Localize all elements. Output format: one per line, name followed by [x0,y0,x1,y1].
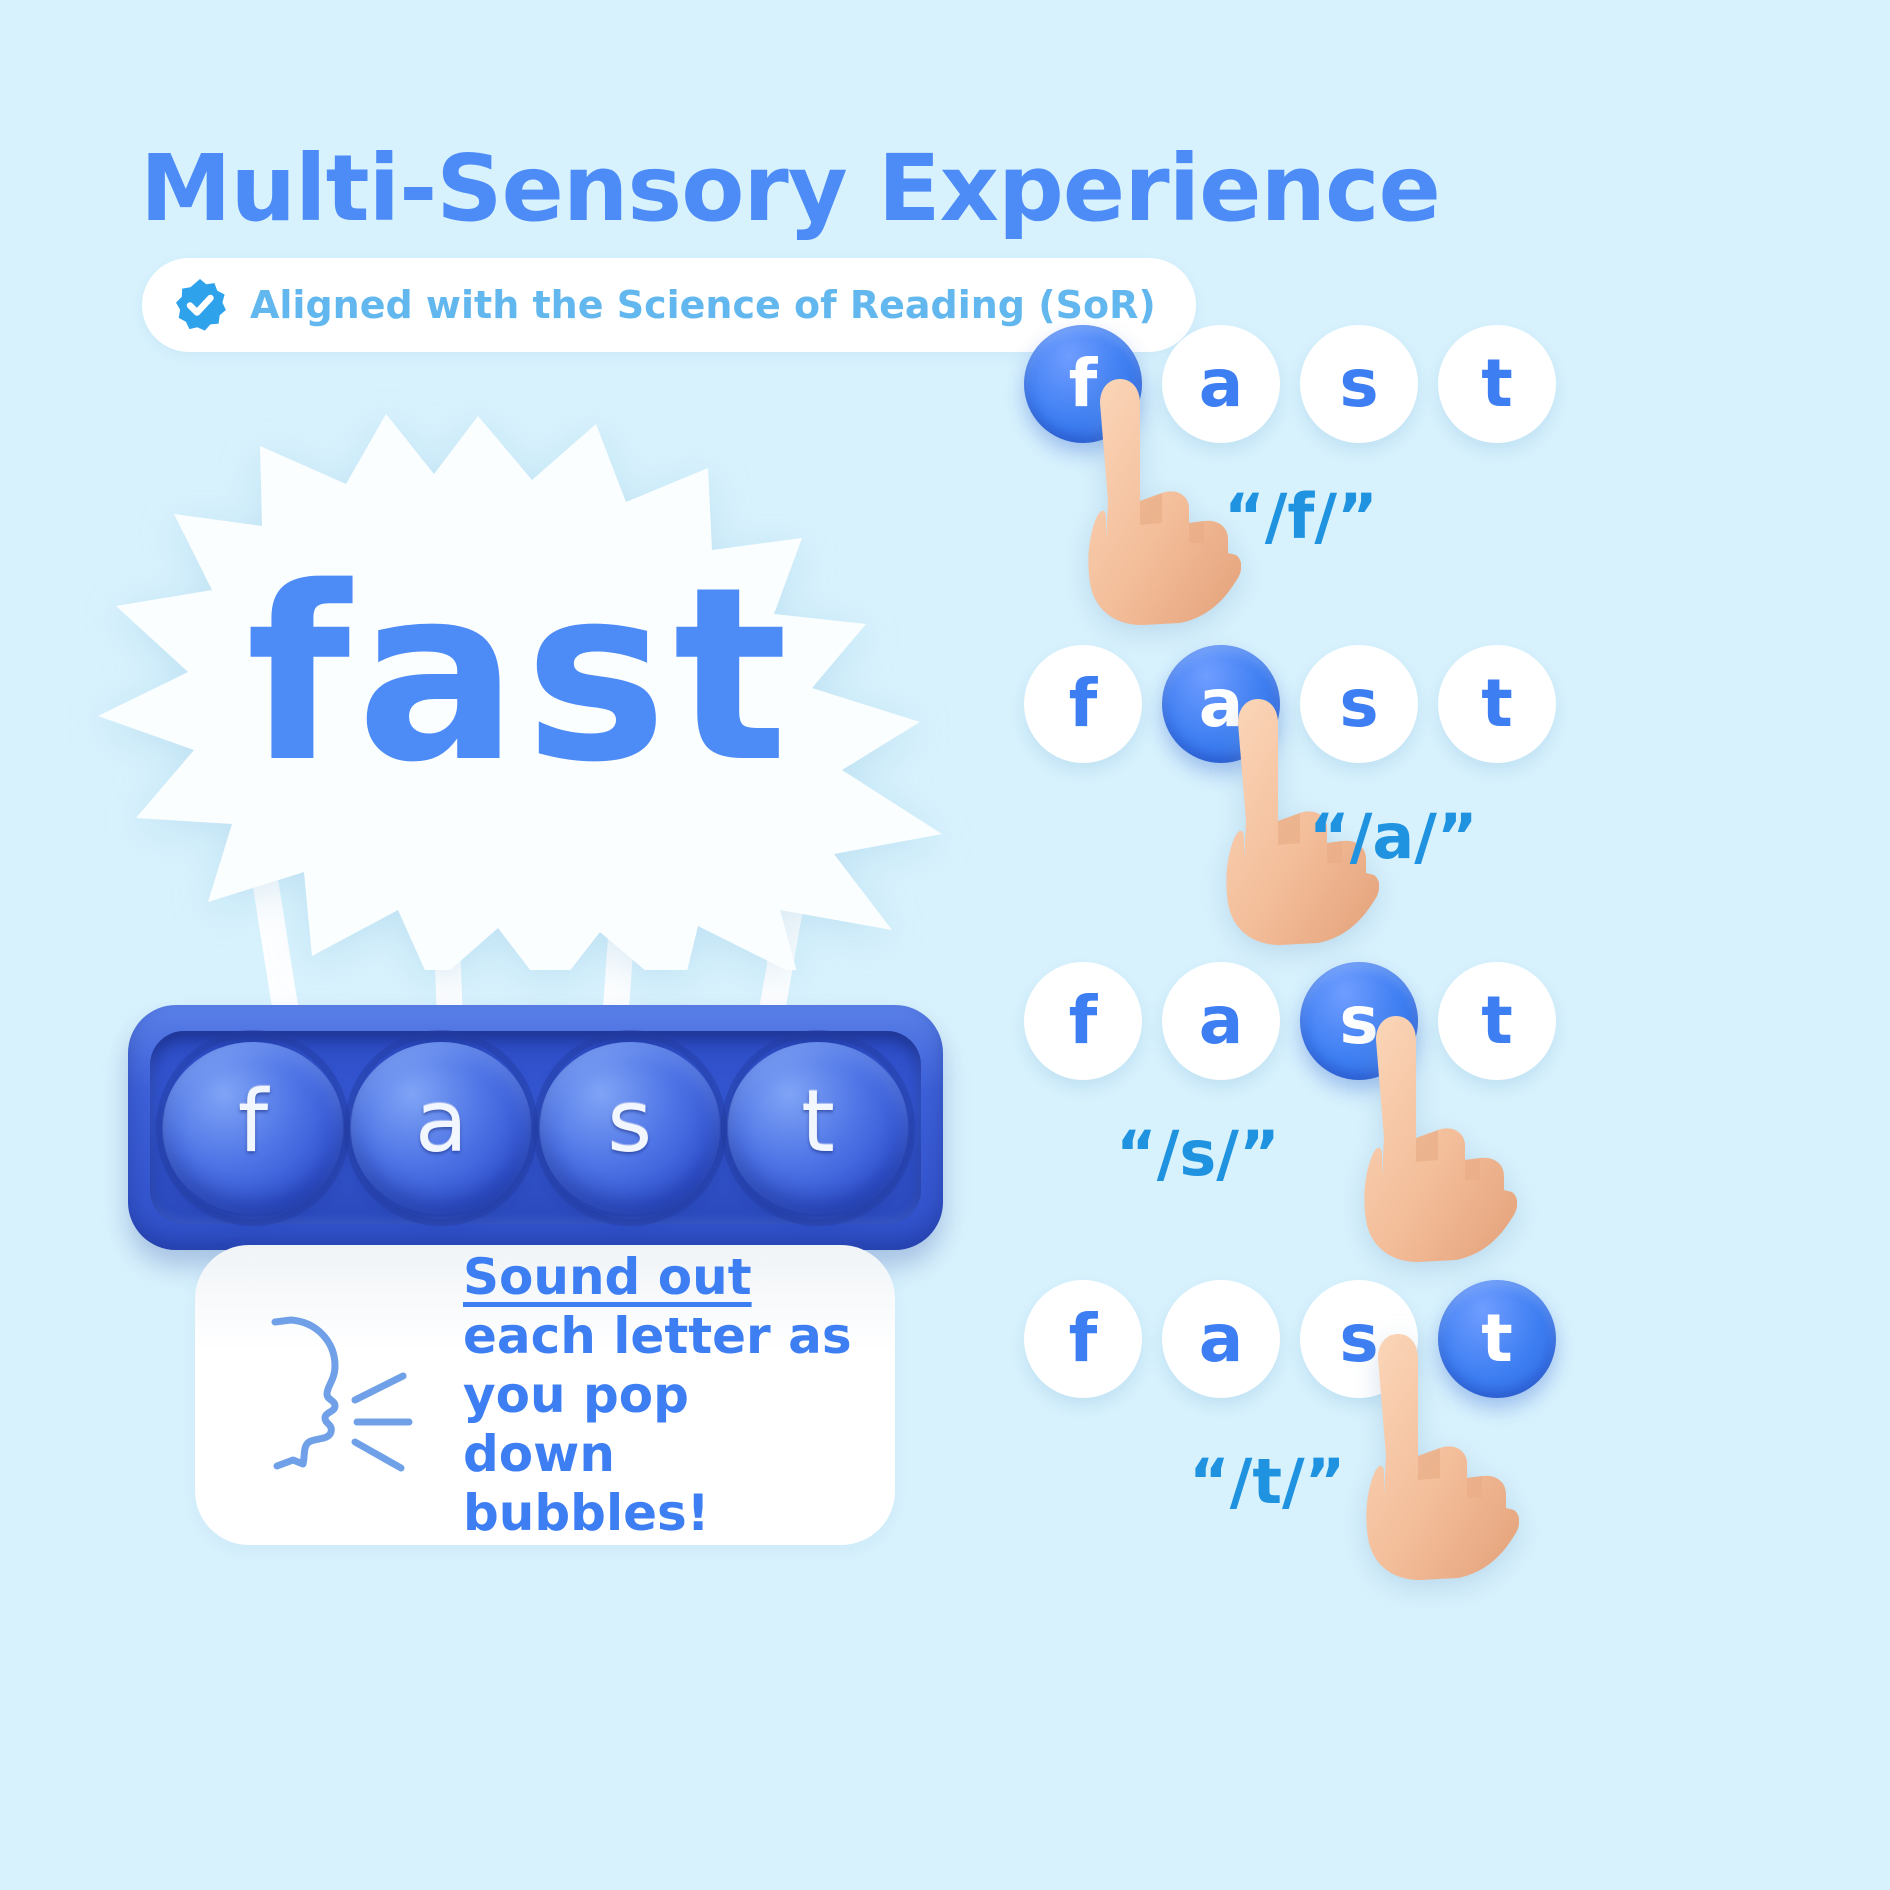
popit-bubble[interactable]: a [350,1042,532,1214]
letter-circle-active[interactable]: t [1438,1280,1556,1398]
letter-circle[interactable]: s [1300,1280,1418,1398]
phoneme-label: “/s/” [1116,1117,1280,1190]
letter-circle-label: a [1199,988,1244,1054]
verified-check-icon [172,277,228,333]
letter-circle-label: s [1339,1306,1378,1372]
page-title: Multi-Sensory Experience [140,135,1440,242]
letter-circle-label: t [1481,1306,1513,1372]
letter-circle-label: s [1339,671,1378,737]
popit-tray[interactable]: f a s t [128,1005,943,1250]
letter-circle-label: a [1199,1306,1244,1372]
letter-row-t: f a s t “/t/” [1024,1280,1556,1398]
letter-row-a: f a s t “/a/” [1024,645,1556,763]
phoneme-label: “/a/” [1309,800,1478,873]
letter-circles: f a s t [1024,962,1556,1080]
letter-row-f: f a s t “/f/” [1024,325,1556,443]
letter-circle-label: s [1339,988,1378,1054]
letter-circles: f a s t [1024,325,1556,443]
letter-circles: f a s t [1024,645,1556,763]
letter-circle-active[interactable]: f [1024,325,1142,443]
letter-circle-active[interactable]: s [1300,962,1418,1080]
letter-circles: f a s t [1024,1280,1556,1398]
letter-circle-label: f [1069,351,1098,417]
letter-circle-label: s [1339,351,1378,417]
letter-circle[interactable]: s [1300,645,1418,763]
instruction-text: Sound out each letter as you pop down bu… [463,1248,855,1543]
letter-row-s: f a s t “/s/” [1024,962,1556,1080]
phoneme-label: “/f/” [1224,480,1378,553]
letter-circle-label: f [1069,1306,1098,1372]
letter-circle[interactable]: t [1438,645,1556,763]
popit-tray-inner: f a s t [150,1031,921,1224]
letter-circle[interactable]: t [1438,325,1556,443]
letter-circle[interactable]: f [1024,1280,1142,1398]
popit-bubble-letter: f [238,1079,268,1165]
letter-circle-label: f [1069,671,1098,737]
letter-circle[interactable]: f [1024,645,1142,763]
letter-circle-label: a [1199,671,1244,737]
popit-bubble-letter: s [607,1079,652,1165]
letter-circle[interactable]: a [1162,1280,1280,1398]
instruction-underlined: Sound out [463,1248,752,1306]
instruction-card: Sound out each letter as you pop down bu… [195,1245,895,1545]
badge-label: Aligned with the Science of Reading (SoR… [250,283,1156,327]
letter-circle-label: t [1481,351,1513,417]
word-burst: fast [80,410,960,970]
instruction-rest: each letter as you pop down bubbles! [463,1307,852,1542]
letter-circle[interactable]: a [1162,325,1280,443]
letter-circle[interactable]: s [1300,325,1418,443]
popit-bubble[interactable]: f [162,1042,344,1214]
letter-circle-label: t [1481,671,1513,737]
letter-circle-active[interactable]: a [1162,645,1280,763]
phoneme-label: “/t/” [1189,1445,1345,1518]
letter-circle[interactable]: f [1024,962,1142,1080]
popit-bubble-letter: a [415,1079,468,1165]
letter-circle-label: t [1481,988,1513,1054]
letter-circle-label: a [1199,351,1244,417]
popit-bubble-letter: t [801,1079,835,1165]
burst-word-text: fast [80,410,960,970]
speaking-head-icon [251,1300,441,1490]
letter-circle-label: f [1069,988,1098,1054]
letter-circle[interactable]: a [1162,962,1280,1080]
letter-circle[interactable]: t [1438,962,1556,1080]
popit-bubble[interactable]: s [539,1042,721,1214]
popit-bubble[interactable]: t [727,1042,909,1214]
